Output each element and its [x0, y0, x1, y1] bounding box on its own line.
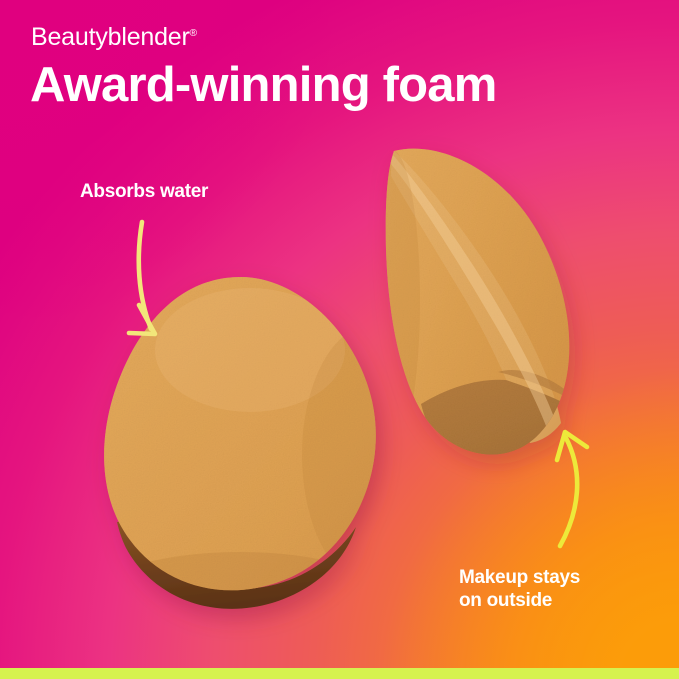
makeup-stays-arrow-shaft — [560, 438, 577, 546]
brand-wordmark: Beautyblender® — [31, 25, 197, 50]
brand-name: Beautyblender — [31, 23, 190, 51]
absorbs-water-arrow — [129, 222, 155, 334]
absorbs-water-arrow-head — [129, 305, 155, 334]
registered-trademark-icon: ® — [190, 28, 197, 39]
advertisement-canvas: Beautyblender® Award-winning foam Absorb… — [0, 0, 679, 679]
callout-makeup-stays-on-outside: Makeup stays on outside — [459, 566, 580, 612]
whole-sponge — [90, 260, 442, 648]
callout-absorbs-water: Absorbs water — [80, 180, 208, 203]
page-title: Award-winning foam — [30, 57, 497, 113]
makeup-stays-arrow — [557, 432, 587, 546]
cut-sponge — [364, 135, 590, 488]
bottom-accent-bar — [0, 668, 679, 679]
